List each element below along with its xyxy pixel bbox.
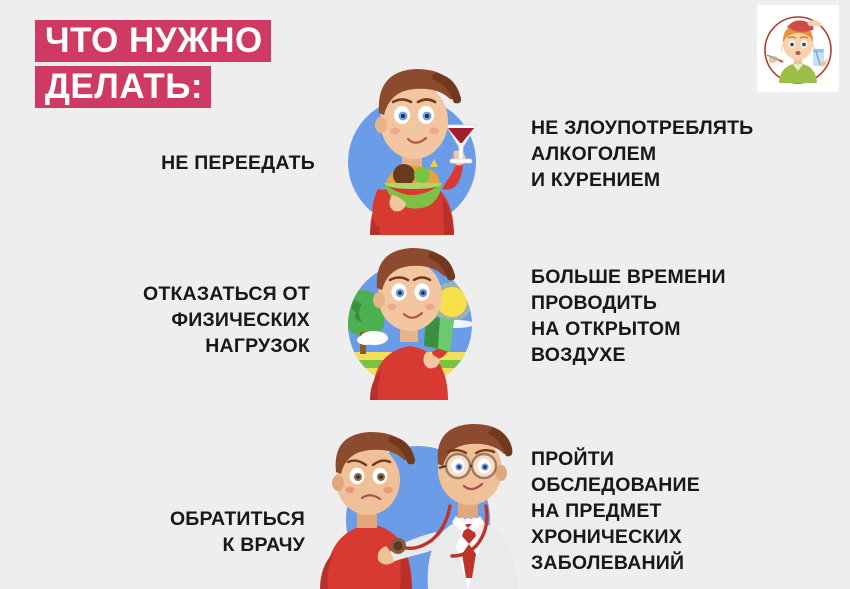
boy-outdoors-icon: [330, 240, 520, 400]
sick-girl-logo-icon: [757, 5, 839, 92]
boy-with-food-bowl-icon: [330, 55, 520, 235]
label-chronic-disease-checkup: ПРОЙТИ ОБСЛЕДОВАНИЕ НА ПРЕДМЕТ ХРОНИЧЕСК…: [531, 446, 700, 576]
label-no-alcohol-smoking: НЕ ЗЛОУПОТРЕБЛЯТЬ АЛКОГОЛЕМ И КУРЕНИЕМ: [531, 115, 753, 193]
label-more-time-outdoors: БОЛЬШЕ ВРЕМЕНИ ПРОВОДИТЬ НА ОТКРЫТОМ ВОЗ…: [531, 264, 726, 368]
title-line-2: ДЕЛАТЬ:: [35, 66, 211, 108]
label-do-not-overeat: НЕ ПЕРЕЕДАТЬ: [161, 150, 315, 176]
illustration-doctor-examining-boy: [300, 420, 535, 589]
title-line-1: ЧТО НУЖНО: [35, 20, 271, 62]
page-title: ЧТО НУЖНО ДЕЛАТЬ:: [35, 20, 335, 112]
infographic-poster: ЧТО НУЖНО ДЕЛАТЬ:: [0, 0, 850, 589]
label-see-a-doctor: ОБРАТИТЬСЯ К ВРАЧУ: [170, 506, 305, 558]
illustration-boy-with-food-and-wine: [330, 55, 520, 235]
sick-girl-logo: [757, 5, 839, 92]
illustration-boy-outdoors: [330, 240, 520, 400]
doctor-stethoscope-icon: [300, 420, 535, 589]
label-avoid-physical-strain: ОТКАЗАТЬСЯ ОТ ФИЗИЧЕСКИХ НАГРУЗОК: [143, 281, 310, 359]
